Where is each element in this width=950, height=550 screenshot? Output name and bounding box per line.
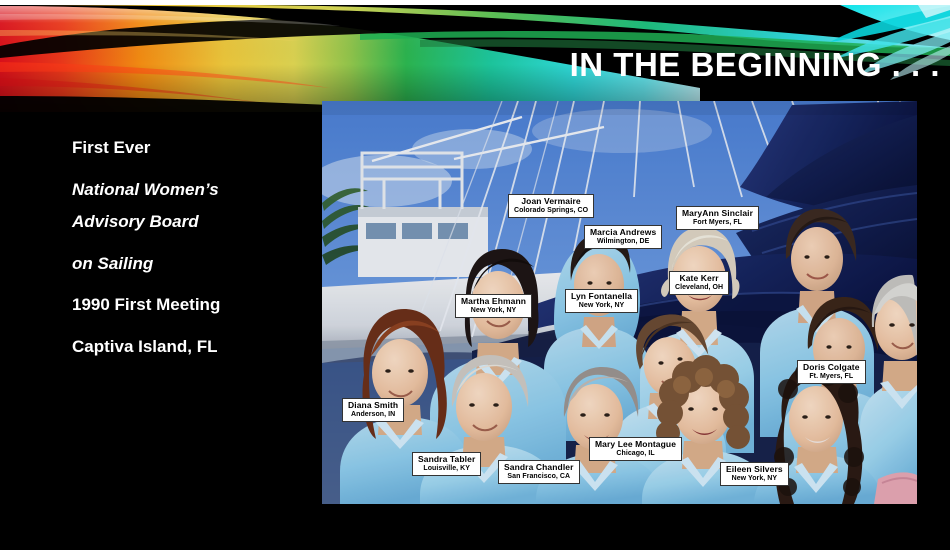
nametag-city: Chicago, IL	[595, 450, 676, 457]
nametag-city: Anderson, IN	[348, 411, 398, 418]
nametag-name: Eileen Silvers	[726, 465, 783, 474]
nametag-diana-smith: Diana Smith Anderson, IN	[342, 398, 404, 422]
text-line-board-name-3: on Sailing	[72, 254, 307, 274]
nametag-name: Doris Colgate	[803, 363, 860, 372]
nametag-maryann-sinclair: MaryAnn Sinclair Fort Myers, FL	[676, 206, 759, 230]
nametag-mary-lee-montague: Mary Lee Montague Chicago, IL	[589, 437, 682, 461]
nametag-doris-colgate: Doris Colgate Ft. Myers, FL	[797, 360, 866, 384]
nametag-sandra-chandler: Sandra Chandler San Francisco, CA	[498, 460, 580, 484]
nametag-name: Marcia Andrews	[590, 228, 656, 237]
nametag-sandra-tabler: Sandra Tabler Louisville, KY	[412, 452, 481, 476]
slide-title: IN THE BEGINNING . . .	[470, 48, 940, 83]
nametag-name: Sandra Tabler	[418, 455, 475, 464]
text-line-location: Captiva Island, FL	[72, 337, 307, 357]
nametag-name: Martha Ehmann	[461, 297, 526, 306]
nametag-city: New York, NY	[571, 302, 632, 309]
nametag-name: Diana Smith	[348, 401, 398, 410]
text-line-board-name-2: Advisory Board	[72, 212, 307, 232]
nametag-name: Sandra Chandler	[504, 463, 574, 472]
nametag-city: New York, NY	[726, 475, 783, 482]
text-line-first-ever: First Ever	[72, 138, 307, 158]
nametag-city: San Francisco, CA	[504, 473, 574, 480]
nametag-city: Wilmington, DE	[590, 238, 656, 245]
left-text-column: First Ever National Women’s Advisory Boa…	[72, 138, 307, 356]
nametag-name: Lyn Fontanella	[571, 292, 632, 301]
nametag-marcia-andrews: Marcia Andrews Wilmington, DE	[584, 225, 662, 249]
nametag-name: Kate Kerr	[675, 274, 723, 283]
nametag-lyn-fontanella: Lyn Fontanella New York, NY	[565, 289, 638, 313]
nametag-city: Fort Myers, FL	[682, 219, 753, 226]
text-line-board-name-1: National Women’s	[72, 180, 307, 200]
nametag-name: Mary Lee Montague	[595, 440, 676, 449]
nametag-city: Louisville, KY	[418, 465, 475, 472]
nametag-kate-kerr: Kate Kerr Cleveland, OH	[669, 271, 729, 295]
nametag-city: New York, NY	[461, 307, 526, 314]
presentation-slide: IN THE BEGINNING . . . First Ever Nation…	[0, 0, 950, 550]
nametag-martha-ehmann: Martha Ehmann New York, NY	[455, 294, 532, 318]
text-line-first-meeting: 1990 First Meeting	[72, 295, 307, 315]
nametag-city: Colorado Springs, CO	[514, 207, 588, 214]
nametag-name: Joan Vermaire	[514, 197, 588, 206]
nametag-city: Cleveland, OH	[675, 284, 723, 291]
nametag-name: MaryAnn Sinclair	[682, 209, 753, 218]
nametag-eileen-silvers: Eileen Silvers New York, NY	[720, 462, 789, 486]
nametag-joan-vermaire: Joan Vermaire Colorado Springs, CO	[508, 194, 594, 218]
nametag-city: Ft. Myers, FL	[803, 373, 860, 380]
